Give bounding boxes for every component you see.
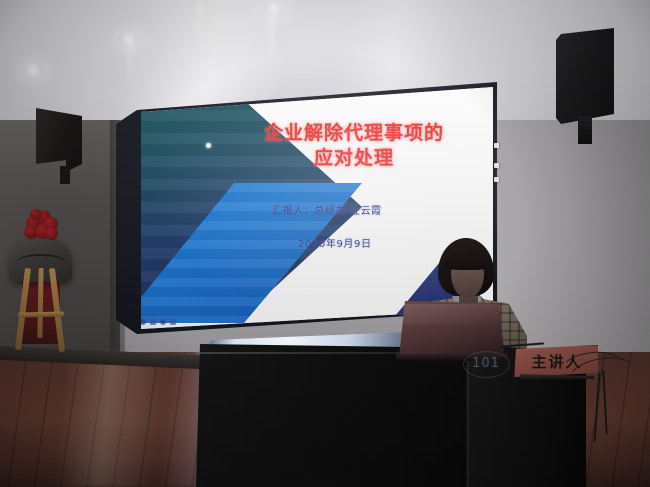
screen-frame-clip	[494, 163, 499, 168]
ceiling-downlight	[22, 64, 44, 76]
wall-speaker-right-mount	[578, 116, 592, 144]
room-number: 101	[466, 353, 506, 375]
taskbar-app-icon[interactable]	[170, 319, 176, 325]
wall-speaker-left-mount	[60, 166, 70, 184]
projection-screen[interactable]: 企业解除代理事项的 应对处理 汇报人：总经办 汪云霞 2020年9月9日	[122, 87, 493, 329]
windows-taskbar[interactable]	[140, 316, 212, 327]
presentation-slide: 企业解除代理事项的 应对处理 汇报人：总经办 汪云霞 2020年9月9日	[122, 87, 493, 329]
slide-presenter-line: 汇报人：总经办 汪云霞	[272, 202, 482, 217]
ceiling-light-streak	[196, 2, 204, 60]
slide-title-line-1: 企业解除代理事项的	[226, 121, 482, 146]
podium-front-panel	[196, 344, 472, 487]
ceiling-light-streak	[126, 42, 135, 88]
slide-title-line-2: 应对处理	[226, 146, 482, 171]
projection-screen-highlight-spot	[206, 143, 211, 148]
ceiling-light-streak	[268, 12, 275, 62]
taskbar-app-icon[interactable]	[160, 319, 166, 325]
conference-room-photo: 企业解除代理事项的 应对处理 汇报人：总经办 汪云霞 2020年9月9日	[0, 0, 650, 487]
taskbar-app-icon[interactable]	[150, 319, 156, 325]
flower-arrangement	[22, 208, 60, 242]
wall-speaker-right	[556, 28, 614, 124]
screen-frame-clip	[494, 177, 499, 182]
screen-frame-clip	[494, 143, 499, 148]
laptop-lid-highlight	[403, 304, 499, 324]
slide-title: 企业解除代理事项的 应对处理	[226, 121, 482, 171]
